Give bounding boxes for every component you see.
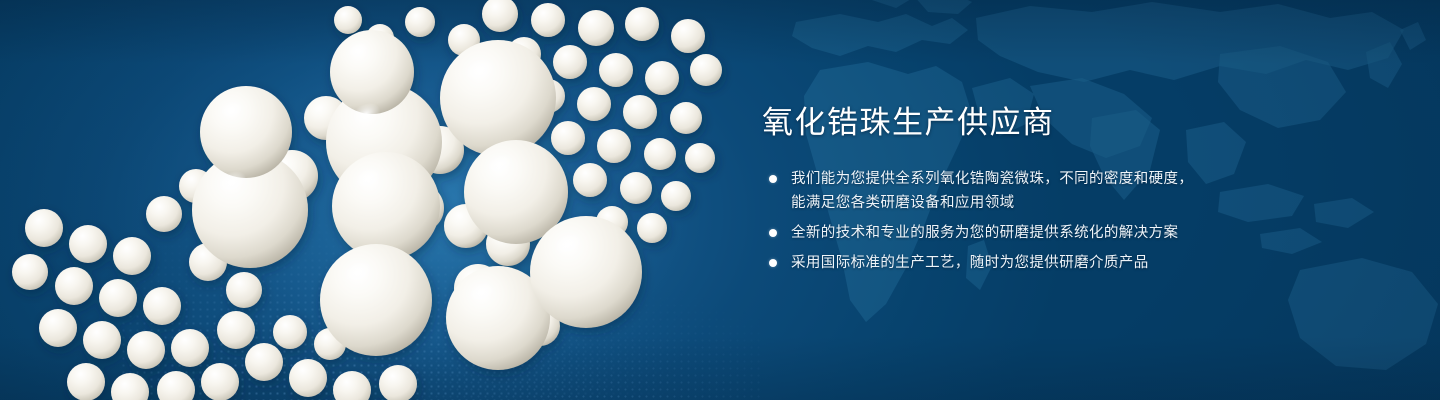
list-item: 全新的技术和专业的服务为您的研磨提供系统化的解决方案 <box>762 221 1382 245</box>
hero-banner: 氧化锆珠生产供应商 我们能为您提供全系列氧化锆陶瓷微珠，不同的密度和硬度， 能满… <box>0 0 1440 400</box>
list-item: 我们能为您提供全系列氧化锆陶瓷微珠，不同的密度和硬度， 能满足您各类研磨设备和应… <box>762 167 1382 215</box>
page-title: 氧化锆珠生产供应商 <box>762 104 1382 141</box>
bullet-dot-icon <box>769 229 777 237</box>
list-item-line: 我们能为您提供全系列氧化锆陶瓷微珠，不同的密度和硬度， <box>791 167 1382 191</box>
list-item-line: 全新的技术和专业的服务为您的研磨提供系统化的解决方案 <box>791 221 1382 245</box>
list-item: 采用国际标准的生产工艺，随时为您提供研磨介质产品 <box>762 251 1382 275</box>
banner-copy: 氧化锆珠生产供应商 我们能为您提供全系列氧化锆陶瓷微珠，不同的密度和硬度， 能满… <box>762 104 1382 275</box>
bullet-dot-icon <box>769 259 777 267</box>
list-item-line: 能满足您各类研磨设备和应用领域 <box>791 191 1382 215</box>
selling-points-list: 我们能为您提供全系列氧化锆陶瓷微珠，不同的密度和硬度， 能满足您各类研磨设备和应… <box>762 167 1382 275</box>
bullet-dot-icon <box>769 175 777 183</box>
list-item-line: 采用国际标准的生产工艺，随时为您提供研磨介质产品 <box>791 251 1382 275</box>
